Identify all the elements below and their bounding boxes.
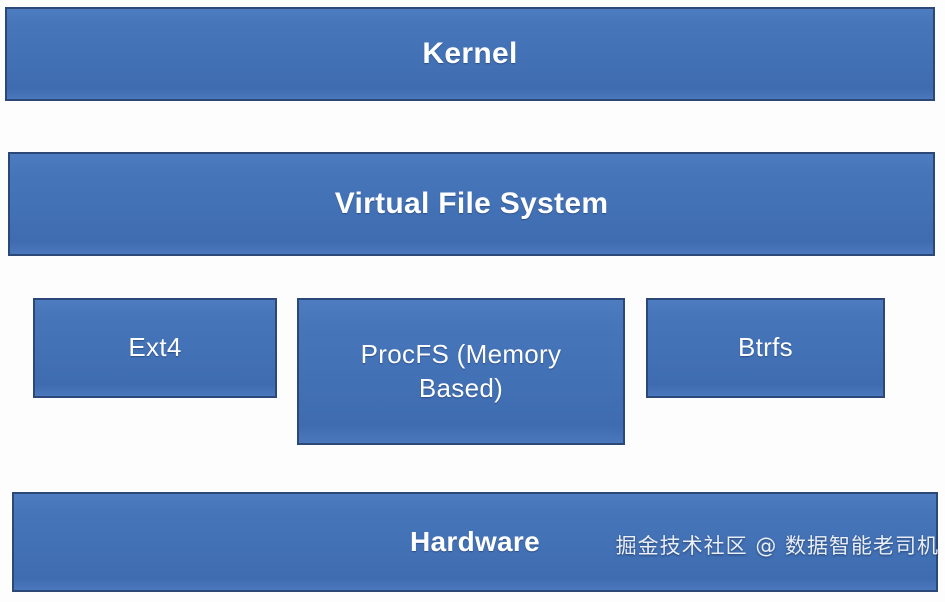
layer-label-virtual-file-system: Virtual File System (325, 185, 619, 223)
layer-label-btrfs: Btrfs (728, 331, 803, 364)
layer-box-virtual-file-system: Virtual File System (8, 152, 935, 256)
layer-box-hardware: Hardware (12, 492, 938, 592)
layer-label-hardware: Hardware (400, 524, 550, 560)
layer-label-procfs: ProcFS (Memory Based) (351, 338, 572, 405)
layer-box-ext4: Ext4 (33, 298, 277, 398)
diagram-canvas: Kernel Virtual File System Ext4 ProcFS (… (0, 0, 945, 602)
layer-label-ext4: Ext4 (118, 331, 191, 364)
layer-label-kernel: Kernel (412, 35, 527, 73)
layer-box-kernel: Kernel (5, 7, 935, 101)
layer-box-procfs: ProcFS (Memory Based) (297, 298, 625, 445)
layer-box-btrfs: Btrfs (646, 298, 885, 398)
